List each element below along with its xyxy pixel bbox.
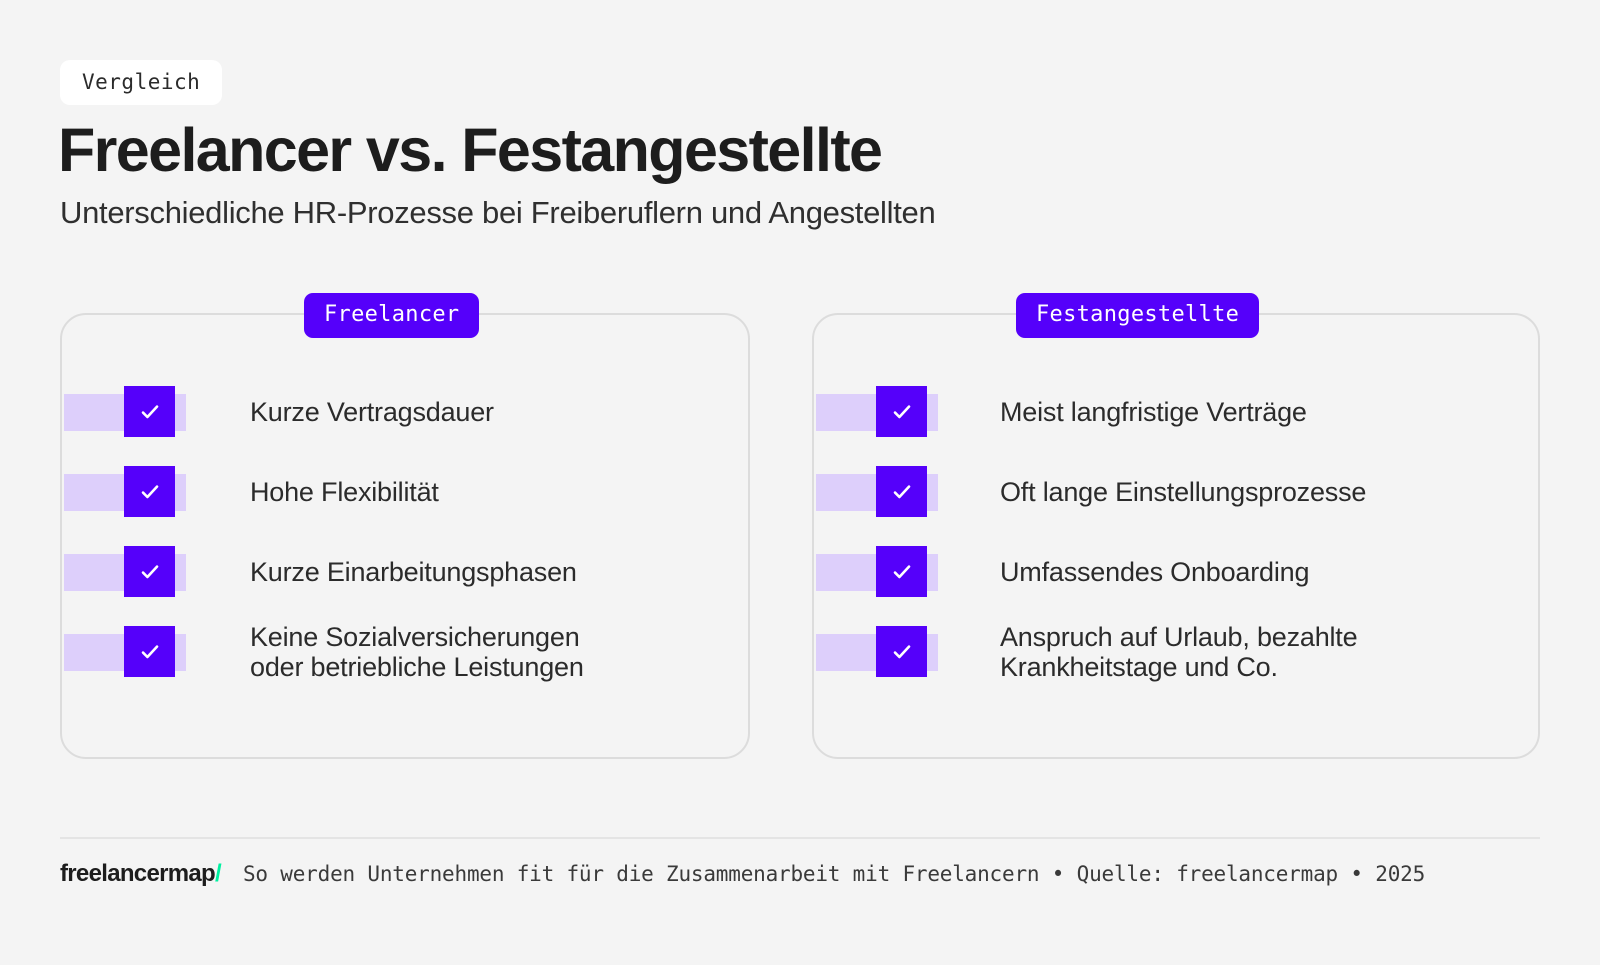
brand-logo-name: freelancermap — [60, 860, 215, 887]
page-subtitle: Unterschiedliche HR-Prozesse bei Freiber… — [60, 194, 935, 231]
list-item-label: Hohe Flexibilität — [250, 477, 439, 507]
check-icon — [124, 626, 175, 677]
check-icon — [876, 546, 927, 597]
check-icon — [876, 386, 927, 437]
check-icon — [124, 466, 175, 517]
infographic-page: Vergleich Freelancer vs. Festangestellte… — [0, 0, 1600, 965]
brand-logo: freelancermap/ — [60, 860, 221, 888]
list-item-label: Kurze Einarbeitungsphasen — [250, 557, 577, 587]
page-title: Freelancer vs. Festangestellte — [58, 118, 881, 182]
check-icon — [124, 386, 175, 437]
check-icon — [876, 466, 927, 517]
eyebrow-badge: Vergleich — [60, 60, 222, 105]
check-icon — [876, 626, 927, 677]
list-item-label: Anspruch auf Urlaub, bezahlte Krankheits… — [1000, 622, 1357, 682]
list-item-label: Oft lange Einstellungsprozesse — [1000, 477, 1366, 507]
list-item-label: Umfassendes Onboarding — [1000, 557, 1309, 587]
footer-source-text: So werden Unternehmen fit für die Zusamm… — [243, 862, 1425, 886]
list-item-label: Keine Sozialversicherungen oder betriebl… — [250, 622, 584, 682]
comparison-card-festangestellte: Festangestellte Meist langfristige Vertr… — [812, 313, 1540, 759]
list-item-label: Meist langfristige Verträge — [1000, 397, 1307, 427]
footer: freelancermap/ So werden Unternehmen fit… — [60, 860, 1425, 888]
brand-logo-slash: / — [215, 860, 221, 887]
footer-divider — [60, 837, 1540, 839]
comparison-card-freelancer: Freelancer Kurze VertragsdauerHohe Flexi… — [60, 313, 750, 759]
list-item-label: Kurze Vertragsdauer — [250, 397, 494, 427]
feature-list-freelancer: Kurze VertragsdauerHohe FlexibilitätKurz… — [62, 315, 748, 757]
feature-list-festangestellte: Meist langfristige VerträgeOft lange Ein… — [814, 315, 1538, 757]
check-icon — [124, 546, 175, 597]
